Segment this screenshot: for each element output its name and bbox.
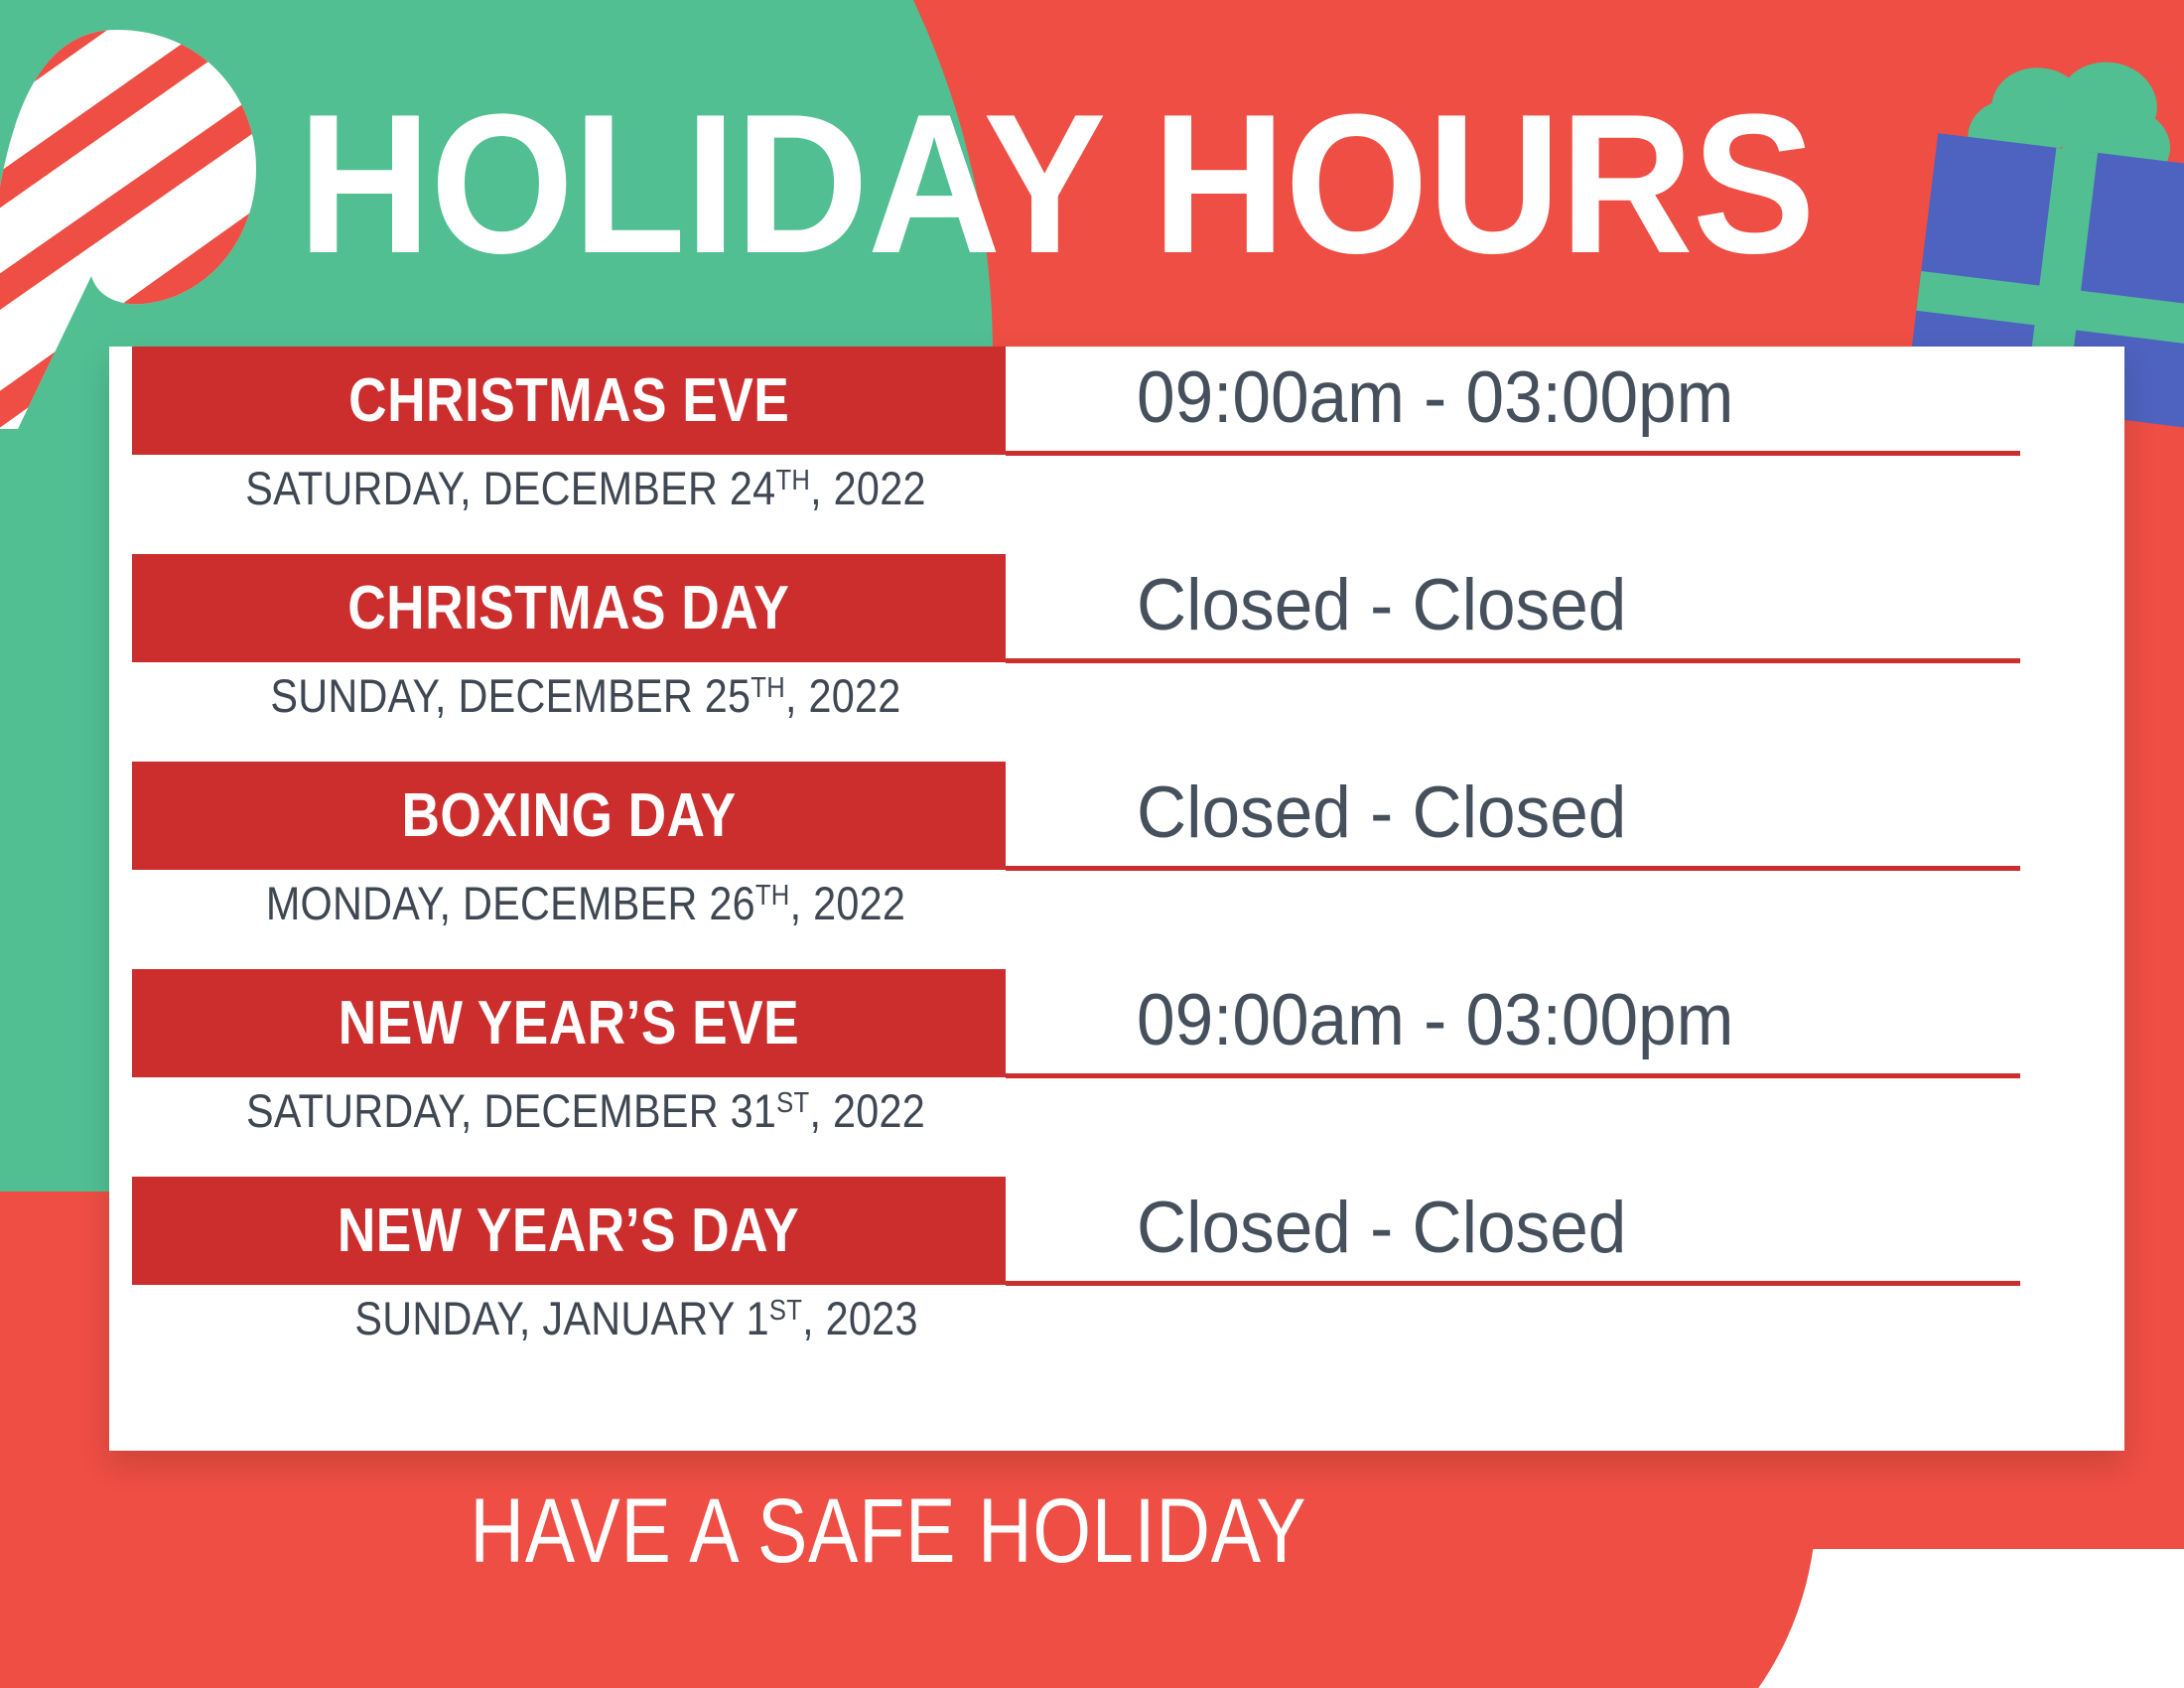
table-row: NEW YEAR’S EVE 09:00am - 03:00pm SATURDA… xyxy=(109,969,2124,1177)
date-prefix: SATURDAY, DECEMBER 31 xyxy=(246,1084,776,1137)
date-suffix: , 2022 xyxy=(809,1084,925,1137)
date-suffix: , 2022 xyxy=(810,462,926,514)
holiday-banner: CHRISTMAS DAY xyxy=(132,554,1006,662)
table-row: NEW YEAR’S DAY Closed - Closed SUNDAY, J… xyxy=(109,1177,2124,1395)
date-ordinal: TH xyxy=(751,672,785,704)
hours-card: CHRISTMAS EVE 09:00am - 03:00pm SATURDAY… xyxy=(109,347,2124,1451)
holiday-hours-poster: HOLIDAY HOURS CHRISTMAS EVE 09:00am - 03… xyxy=(0,0,2184,1688)
date-suffix: , 2022 xyxy=(785,669,901,722)
table-row: BOXING DAY Closed - Closed MONDAY, DECEM… xyxy=(109,762,2124,969)
holiday-banner: BOXING DAY xyxy=(132,762,1006,870)
page-title: HOLIDAY HOURS xyxy=(298,85,1822,284)
holiday-date: MONDAY, DECEMBER 26TH, 2022 xyxy=(218,876,952,930)
date-suffix: , 2022 xyxy=(790,877,906,929)
holiday-banner: NEW YEAR’S DAY xyxy=(132,1177,1006,1285)
date-prefix: SATURDAY, DECEMBER 24 xyxy=(245,462,775,514)
date-ordinal: TH xyxy=(775,465,810,496)
holiday-date: SATURDAY, DECEMBER 24TH, 2022 xyxy=(218,461,952,515)
date-ordinal: ST xyxy=(776,1087,809,1119)
holiday-banner: NEW YEAR’S EVE xyxy=(132,969,1006,1077)
holiday-date: SATURDAY, DECEMBER 31ST, 2022 xyxy=(218,1083,952,1138)
date-prefix: SUNDAY, DECEMBER 25 xyxy=(270,669,751,722)
footer-text: HAVE A SAFE HOLIDAY xyxy=(471,1479,1307,1584)
date-prefix: MONDAY, DECEMBER 26 xyxy=(266,877,755,929)
holiday-date: SUNDAY, JANUARY 1ST, 2023 xyxy=(269,1291,1003,1345)
holiday-name: NEW YEAR’S DAY xyxy=(338,1196,799,1266)
date-suffix: , 2023 xyxy=(802,1292,918,1344)
holiday-hours: 09:00am - 03:00pm xyxy=(1137,343,1967,452)
date-ordinal: ST xyxy=(769,1295,802,1327)
holiday-name: CHRISTMAS DAY xyxy=(347,573,789,643)
holiday-name: NEW YEAR’S EVE xyxy=(339,988,799,1058)
holiday-hours: Closed - Closed xyxy=(1137,1173,1967,1282)
holiday-name: CHRISTMAS EVE xyxy=(348,365,789,436)
table-row: CHRISTMAS DAY Closed - Closed SUNDAY, DE… xyxy=(109,554,2124,762)
date-prefix: SUNDAY, JANUARY 1 xyxy=(354,1292,768,1344)
holiday-banner: CHRISTMAS EVE xyxy=(132,347,1006,455)
schedule-table: CHRISTMAS EVE 09:00am - 03:00pm SATURDAY… xyxy=(109,347,2124,1395)
holiday-hours: Closed - Closed xyxy=(1137,758,1967,867)
holiday-name: BOXING DAY xyxy=(401,780,736,851)
holiday-hours: Closed - Closed xyxy=(1137,550,1967,659)
date-ordinal: TH xyxy=(755,880,790,912)
holiday-hours: 09:00am - 03:00pm xyxy=(1137,965,1967,1074)
footer-message: HAVE A SAFE HOLIDAY xyxy=(0,1479,1777,1584)
table-row: CHRISTMAS EVE 09:00am - 03:00pm SATURDAY… xyxy=(109,347,2124,554)
holiday-date: SUNDAY, DECEMBER 25TH, 2022 xyxy=(218,668,952,723)
